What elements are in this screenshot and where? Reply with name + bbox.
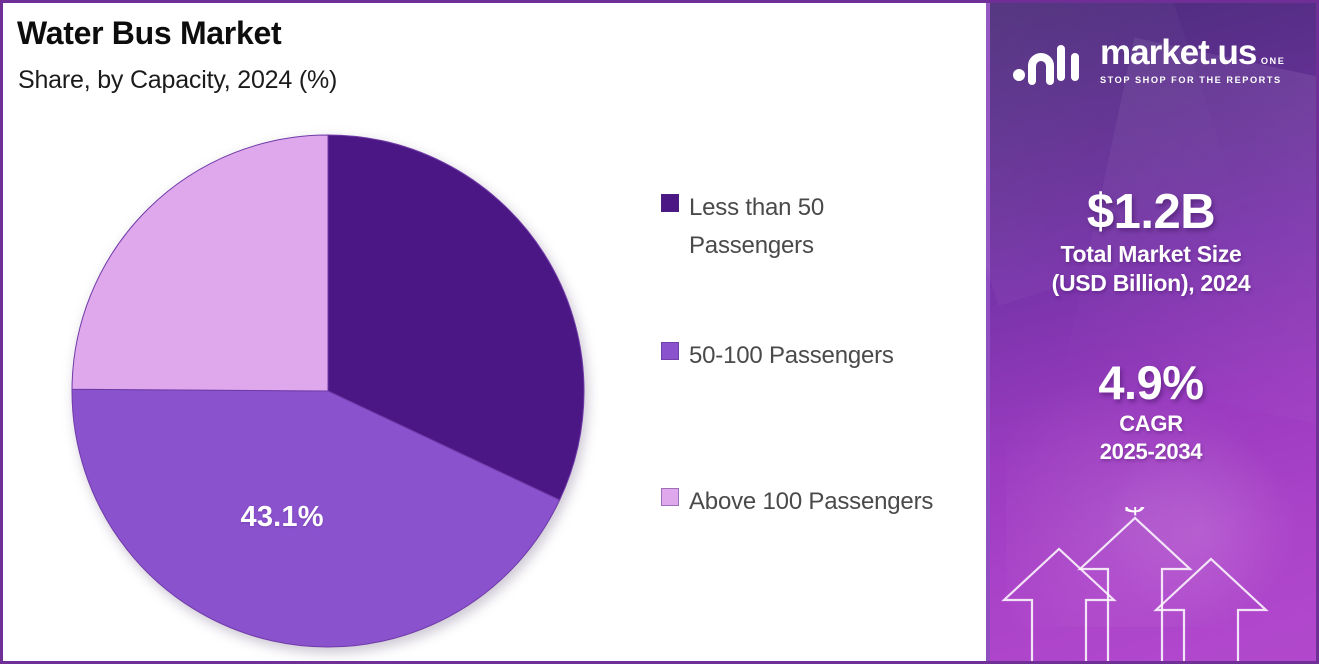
cagr-value: 4.9% bbox=[986, 355, 1316, 410]
pie-svg bbox=[71, 134, 585, 648]
legend-label-less-than-50: Less than 50 Passengers bbox=[689, 189, 939, 265]
legend-item-less-than-50[interactable]: Less than 50 Passengers bbox=[661, 189, 939, 265]
market-us-logo[interactable]: market.us ONE STOP SHOP FOR THE REPORTS bbox=[1012, 36, 1316, 88]
legend-swatch-icon-50-100 bbox=[661, 342, 679, 360]
growth-arrows-icon: $ bbox=[986, 507, 1316, 664]
market-us-logo-icon bbox=[1012, 39, 1088, 85]
dollar-symbol-icon: $ bbox=[1124, 507, 1147, 522]
legend-label-50-100: 50-100 Passengers bbox=[689, 337, 894, 375]
cagr-label-line1: CAGR bbox=[986, 410, 1316, 438]
logo-name: market.us bbox=[1100, 33, 1256, 72]
market-size-label-line1: Total Market Size bbox=[986, 240, 1316, 269]
page-title: Water Bus Market bbox=[17, 15, 281, 52]
legend-item-50-100[interactable]: 50-100 Passengers bbox=[661, 337, 894, 375]
legend-label-above-100: Above 100 Passengers bbox=[689, 483, 933, 521]
stat-market-size: $1.2B Total Market Size (USD Billion), 2… bbox=[986, 184, 1316, 298]
legend-item-above-100[interactable]: Above 100 Passengers bbox=[661, 483, 933, 521]
pie-slice[interactable] bbox=[72, 135, 328, 391]
page-subtitle: Share, by Capacity, 2024 (%) bbox=[18, 66, 337, 95]
market-size-label-line2: (USD Billion), 2024 bbox=[986, 269, 1316, 298]
brand-panel: market.us ONE STOP SHOP FOR THE REPORTS … bbox=[986, 3, 1316, 664]
cagr-label-line2: 2025-2034 bbox=[986, 438, 1316, 466]
legend-swatch-icon-above-100 bbox=[661, 488, 679, 506]
chart-area: Water Bus Market Share, by Capacity, 202… bbox=[3, 3, 989, 664]
infographic-canvas: Water Bus Market Share, by Capacity, 202… bbox=[0, 0, 1319, 664]
pie-chart: 43.1% bbox=[71, 134, 585, 648]
market-size-value: $1.2B bbox=[986, 184, 1316, 240]
legend-swatch-icon-less-than-50 bbox=[661, 194, 679, 212]
stat-cagr: 4.9% CAGR 2025-2034 bbox=[986, 355, 1316, 466]
